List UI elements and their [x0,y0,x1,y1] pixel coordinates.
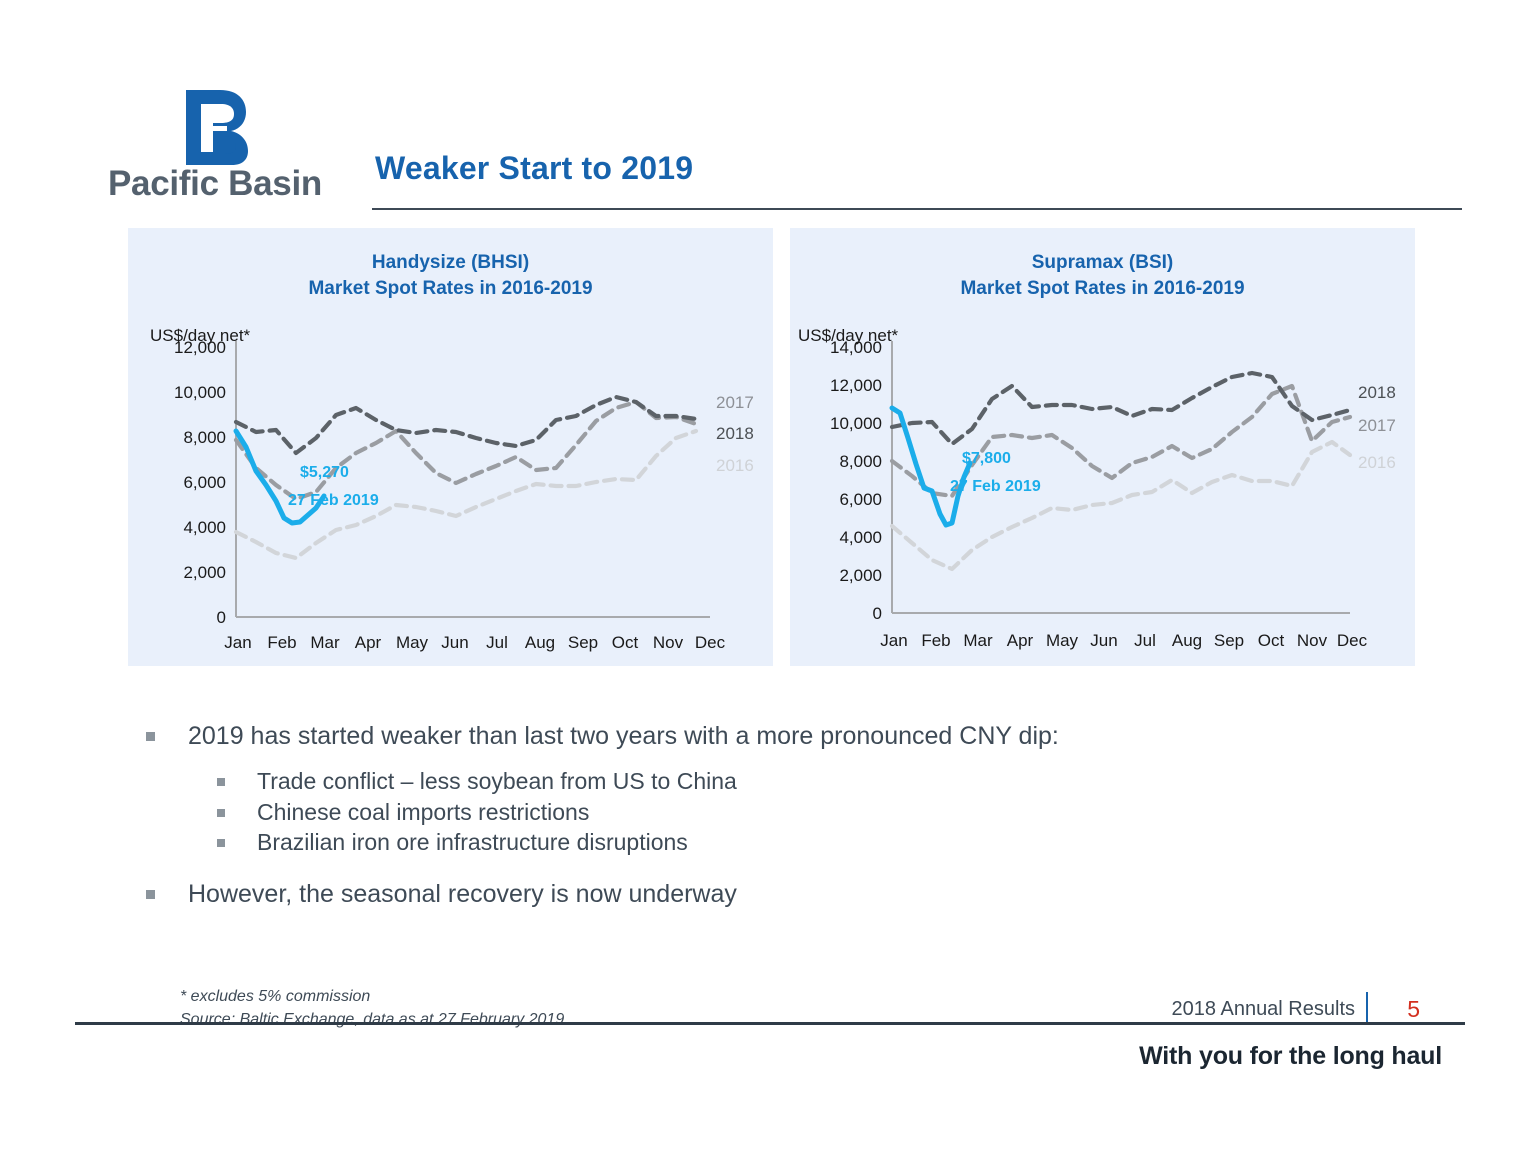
series-line-2016 [892,442,1350,569]
x-tick-label: Sep [1214,631,1244,650]
series-line-2018 [892,373,1350,444]
series-label-2018: 2018 [1358,383,1396,402]
bullet-square-icon [217,778,225,786]
series-label-2016: 2016 [1358,453,1396,472]
bullet-sub-2-text: Chinese coal imports restrictions [257,799,589,825]
y-tick-label: 4,000 [839,528,882,547]
x-tick-label: Nov [653,633,684,652]
bullet-list: 2019 has started weaker than last two ye… [140,718,1340,918]
brand-tagline: With you for the long haul [1139,1042,1442,1071]
x-tick-label: Oct [612,633,639,652]
x-tick-label: Jan [880,631,907,650]
y-tick-label: 10,000 [174,383,226,402]
x-tick-label: Sep [568,633,598,652]
footer-divider [75,1022,1465,1025]
x-tick-label: Apr [355,633,382,652]
x-tick-label: Dec [695,633,726,652]
page-number: 5 [1407,996,1420,1023]
x-tick-label: Aug [1172,631,1202,650]
bullet-square-icon [217,809,225,817]
y-tick-label: 0 [217,608,226,627]
brand-logo: Pacific Basin [108,88,348,213]
bullet-main-2: However, the seasonal recovery is now un… [140,876,1340,912]
annotation-date-supramax: 27 Feb 2019 [950,478,1041,495]
x-tick-label: Aug [525,633,555,652]
bullet-sub-1-text: Trade conflict – less soybean from US to… [257,768,737,794]
deck-name: 2018 Annual Results [1172,998,1355,1021]
x-tick-label: Dec [1337,631,1368,650]
y-tick-label: 12,000 [174,338,226,357]
chart-panel-supramax: Supramax (BSI) Market Spot Rates in 2016… [790,228,1415,666]
x-tick-label: Mar [963,631,993,650]
series-line-2017 [236,402,696,499]
x-tick-label: Jul [486,633,508,652]
series-line-2019 [892,408,970,525]
x-tick-label: Oct [1258,631,1285,650]
x-tick-label: Feb [267,633,296,652]
annotation-value-handysize: $5,270 [300,464,349,481]
bullet-square-icon [217,839,225,847]
footnote-line-1: * excludes 5% commission [180,985,564,1008]
x-tick-label: Apr [1007,631,1034,650]
annotation-date-handysize: 27 Feb 2019 [288,492,379,509]
bullet-sub-3-text: Brazilian iron ore infrastructure disrup… [257,829,688,855]
chart-panel-handysize: Handysize (BHSI) Market Spot Rates in 20… [128,228,773,666]
chart-plot-supramax: 14,000 12,000 10,000 8,000 6,000 4,000 2… [790,228,1415,666]
x-tick-label: Nov [1297,631,1328,650]
y-tick-label: 10,000 [830,414,882,433]
y-tick-label: 8,000 [839,452,882,471]
x-tick-label: May [396,633,429,652]
x-tick-label: Jan [224,633,251,652]
annotation-value-supramax: $7,800 [962,450,1011,467]
y-tick-label: 2,000 [183,563,226,582]
page-title: Weaker Start to 2019 [375,150,693,187]
bullet-square-icon [146,732,155,741]
series-label-2017: 2017 [716,393,754,412]
y-tick-label: 12,000 [830,376,882,395]
bullet-sub-1: Trade conflict – less soybean from US to… [140,766,1340,797]
x-tick-label: Jul [1134,631,1156,650]
y-tick-label: 4,000 [183,518,226,537]
bullet-square-icon [146,890,155,899]
series-label-2016: 2016 [716,456,754,475]
bullet-main-1-text: 2019 has started weaker than last two ye… [188,722,1059,750]
x-tick-label: May [1046,631,1079,650]
bullet-sub-3: Brazilian iron ore infrastructure disrup… [140,827,1340,858]
y-tick-label: 2,000 [839,566,882,585]
y-tick-label: 14,000 [830,338,882,357]
footnote-line-2: Source: Baltic Exchange, data as at 27 F… [180,1008,564,1031]
y-tick-label: 6,000 [839,490,882,509]
x-tick-label: Feb [921,631,950,650]
x-tick-label: Mar [310,633,340,652]
chart-plot-handysize: 12,000 10,000 8,000 6,000 4,000 2,000 0 … [128,228,773,666]
bullet-main-1: 2019 has started weaker than last two ye… [140,718,1340,754]
y-tick-label: 8,000 [183,428,226,447]
bullet-main-2-text: However, the seasonal recovery is now un… [188,880,737,908]
pacific-basin-logo-icon [180,88,258,166]
y-tick-label: 0 [873,604,882,623]
bullet-sub-list: Trade conflict – less soybean from US to… [140,766,1340,858]
bullet-sub-2: Chinese coal imports restrictions [140,797,1340,828]
y-tick-label: 6,000 [183,473,226,492]
series-label-2017: 2017 [1358,416,1396,435]
page-number-divider [1366,992,1368,1024]
series-label-2018: 2018 [716,424,754,443]
brand-wordmark: Pacific Basin [108,164,322,204]
title-divider [372,208,1462,210]
x-tick-label: Jun [1090,631,1117,650]
x-tick-label: Jun [441,633,468,652]
